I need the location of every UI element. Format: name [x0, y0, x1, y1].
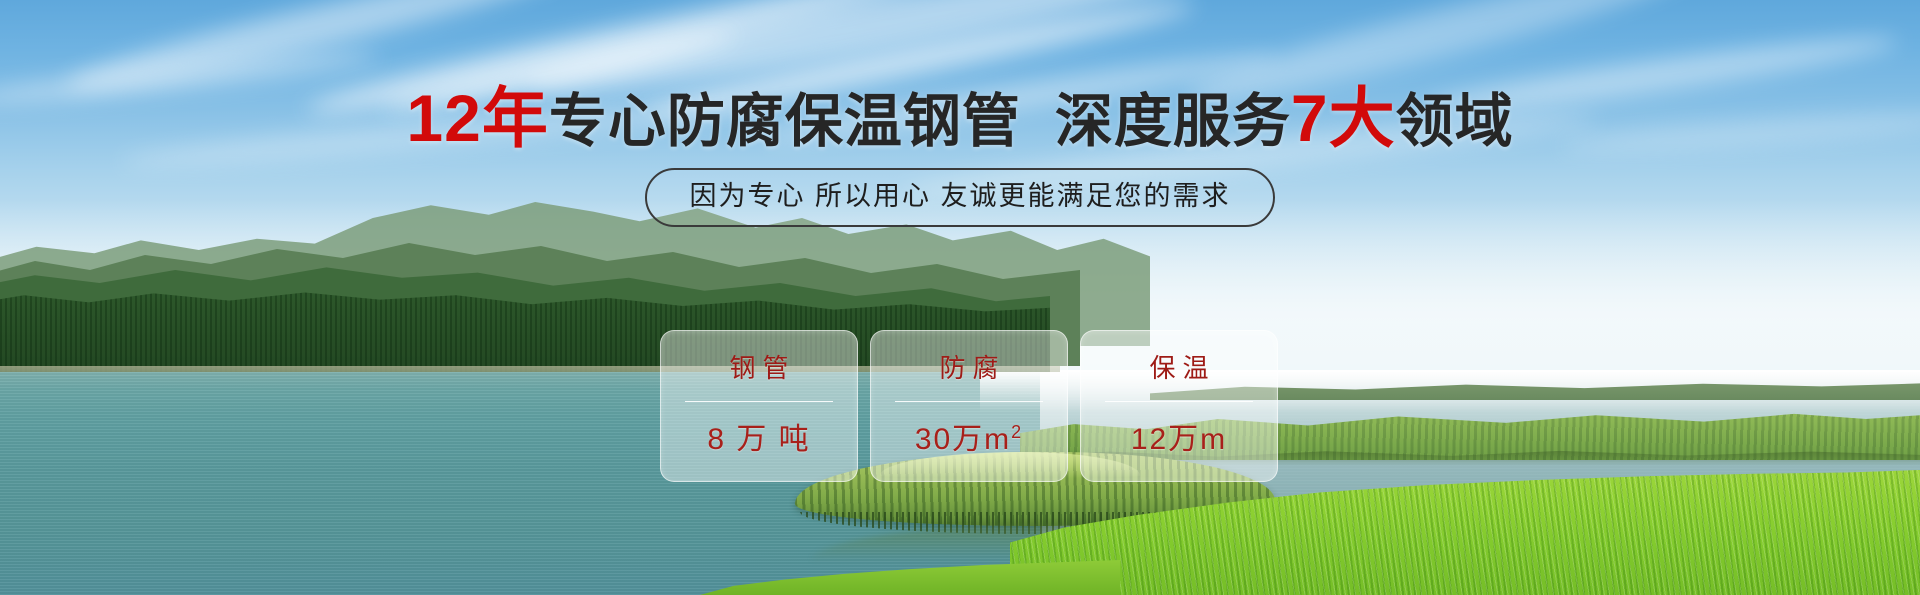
stat-card-insulation[interactable]: 保温 12万m [1080, 330, 1278, 482]
stat-card-anticorrosion[interactable]: 防腐 30万m2 [870, 330, 1068, 482]
stat-value-text: 12万m [1131, 423, 1227, 456]
headline-fields: 领域 [1396, 89, 1514, 154]
stat-card-value: 8 万 吨 [707, 402, 810, 458]
headline-main: 专心防腐保温钢管 [549, 89, 1021, 154]
stat-value-text: 30万m [915, 423, 1011, 456]
stat-card-value: 30万m2 [915, 402, 1023, 458]
stat-card-title: 保温 [1142, 331, 1215, 383]
stat-card-value: 12万m [1131, 402, 1227, 458]
headline-years: 12年 [406, 81, 548, 155]
hero-banner: 12年专心防腐保温钢管深度服务7大领域 因为专心 所以用心 友诚更能满足您的需求… [0, 0, 1920, 595]
subtitle-wrapper: 因为专心 所以用心 友诚更能满足您的需求 [0, 168, 1920, 227]
stat-card-steel-pipe[interactable]: 钢管 8 万 吨 [660, 330, 858, 482]
subtitle-pill: 因为专心 所以用心 友诚更能满足您的需求 [645, 168, 1274, 227]
stat-card-title: 钢管 [722, 331, 795, 383]
headline: 12年专心防腐保温钢管深度服务7大领域 [0, 86, 1920, 154]
headline-fields-count: 7大 [1291, 81, 1396, 155]
headline-service: 深度服务 [1055, 89, 1291, 154]
stat-card-title: 防腐 [932, 331, 1005, 383]
stat-value-superscript: 2 [1011, 422, 1023, 442]
stat-card-group: 钢管 8 万 吨 防腐 30万m2 保温 12万m [660, 330, 1278, 482]
stat-value-text: 8 万 吨 [707, 423, 810, 456]
